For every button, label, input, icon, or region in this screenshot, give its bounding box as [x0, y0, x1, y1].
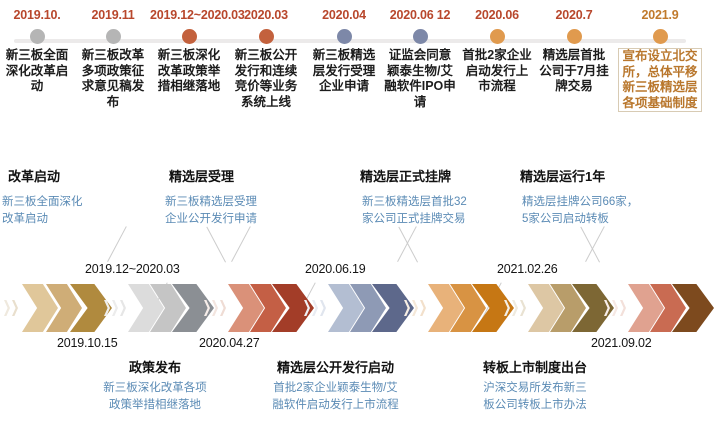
mid-callout-title: 改革启动 — [2, 168, 162, 186]
milestone-dot-wrap — [0, 24, 76, 48]
milestone-dot-icon — [653, 29, 668, 44]
timeline-milestone-4[interactable]: 2020.03 新三板公开发行和连续竞价等业务系统上线 — [227, 0, 305, 110]
timeline-milestone-6[interactable]: 2020.06 12 证监会同意颖泰生物/艾融软件IPO申请 — [381, 0, 459, 110]
arrow-date-below: 2020.04.27 — [199, 336, 260, 350]
arrow-tick-icon — [412, 300, 418, 316]
arrow-tick-icon — [604, 300, 610, 316]
milestone-date: 2020.03 — [227, 8, 305, 24]
mid-callout-title: 精选层正式挂牌 — [352, 168, 542, 186]
bottom-callout-title: 精选层公开发行启动 — [228, 358, 443, 377]
timeline-milestone-2[interactable]: 2019.11 新三板改革多项政策征求意见稿发布 — [74, 0, 152, 110]
milestone-date: 2019.11 — [74, 8, 152, 24]
milestone-text: 新三板精选层发行受理企业申请 — [305, 48, 383, 95]
milestone-dot-icon — [567, 29, 582, 44]
bottom-callout-desc: 新三板深化改革各项 政策举措相继落地 — [60, 380, 250, 414]
milestone-dot-wrap — [618, 24, 702, 48]
timeline-milestone-8[interactable]: 2020.7 精选层首批公司于7月挂牌交易 — [535, 0, 613, 95]
bottom-callout-desc: 首批2家企业颖泰生物/艾 融软件启动发行上市流程 — [228, 380, 443, 414]
mid-callout-title: 精选层受理 — [165, 168, 345, 186]
arrow-tick-icon — [520, 300, 526, 316]
arrow-date-above: 2021.02.26 — [497, 262, 558, 276]
mid-callout-title: 精选层运行1年 — [518, 168, 708, 186]
bottom-callout-title: 政策发布 — [60, 358, 250, 377]
arrow-tick-icon — [420, 300, 426, 316]
arrow-group-2[interactable] — [104, 284, 204, 332]
milestone-text: 首批2家企业启动发行上市流程 — [458, 48, 536, 95]
bottom-callout-desc-line: 首批2家企业颖泰生物/艾 — [228, 380, 443, 397]
timeline-milestone-9[interactable]: 2021.9 宣布设立北交所，总体平移新三板精选层各项基础制度 — [618, 0, 702, 112]
arrow-tick-icon — [12, 300, 18, 316]
arrow-tick-icon — [512, 300, 518, 316]
bottom-callout-desc-line: 新三板深化改革各项 — [60, 380, 250, 397]
arrow-tick-icon — [320, 300, 326, 316]
mid-callout-band: 改革启动 新三板全面深化 改革启动 精选层受理 新三板精选层受理 企业公开发行申… — [0, 168, 716, 260]
timeline-milestone-7[interactable]: 2020.06 首批2家企业启动发行上市流程 — [458, 0, 536, 95]
arrow-date-below: 2019.10.15 — [57, 336, 118, 350]
timeline-milestone-5[interactable]: 2020.04 新三板精选层发行受理企业申请 — [305, 0, 383, 95]
arrow-tick-icon — [104, 300, 110, 316]
arrow-tick-icon — [612, 300, 618, 316]
mid-callout-desc: 新三板精选层首批32 家公司正式挂牌交易 — [352, 194, 542, 228]
arrow-group-4[interactable] — [304, 284, 404, 332]
arrow-tick-icon — [4, 300, 10, 316]
mid-callout-desc-line: 新三板全面深化 — [2, 194, 162, 211]
arrow-date-above: 2019.12~2020.03 — [85, 262, 180, 276]
milestone-dot-icon — [413, 29, 428, 44]
mid-callout-1[interactable]: 改革启动 新三板全面深化 改革启动 — [2, 168, 162, 228]
mid-callout-desc-line: 改革启动 — [2, 211, 162, 228]
milestone-date: 2021.9 — [618, 8, 702, 24]
mid-callout-2[interactable]: 精选层受理 新三板精选层受理 企业公开发行申请 — [165, 168, 345, 228]
timeline-milestone-3[interactable]: 2019.12~2020.03 新三板深化改革政策举措相继落地 — [150, 0, 228, 95]
milestone-dot-wrap — [381, 24, 459, 48]
milestone-dot-wrap — [150, 24, 228, 48]
arrow-group-7[interactable] — [604, 284, 704, 332]
arrow-tick-icon — [304, 300, 310, 316]
milestone-text: 宣布设立北交所，总体平移新三板精选层各项基础制度 — [618, 48, 702, 112]
arrow-group-6[interactable] — [504, 284, 604, 332]
bottom-callout-desc-line: 沪深交易所发布新三 — [440, 380, 630, 397]
milestone-dot-wrap — [305, 24, 383, 48]
arrow-tick-icon — [204, 300, 210, 316]
bottom-callout-band: 政策发布 新三板深化改革各项 政策举措相继落地 精选层公开发行启动 首批2家企业… — [0, 358, 716, 439]
milestone-dot-wrap — [74, 24, 152, 48]
arrow-tick-icon — [620, 300, 626, 316]
arrow-tick-icon — [312, 300, 318, 316]
mid-callout-desc-line: 精选层挂牌公司66家， — [518, 194, 708, 211]
milestone-date: 2019.10. — [0, 8, 76, 24]
bottom-callout-3[interactable]: 转板上市制度出台 沪深交易所发布新三 板公司转板上市办法 — [440, 358, 630, 414]
arrow-tick-icon — [120, 300, 126, 316]
arrow-date-above: 2020.06.19 — [305, 262, 366, 276]
milestone-date: 2020.06 — [458, 8, 536, 24]
milestone-dot-icon — [490, 29, 505, 44]
bottom-callout-title: 转板上市制度出台 — [440, 358, 630, 377]
milestone-dot-wrap — [227, 24, 305, 48]
mid-callout-desc-line: 家公司正式挂牌交易 — [352, 211, 542, 228]
mid-callout-desc-line: 5家公司启动转板 — [518, 211, 708, 228]
milestone-date: 2020.06 12 — [381, 8, 459, 24]
top-timeline: 2019.10. 新三板全面深化改革启动 2019.11 新三板改革多项政策征求… — [0, 0, 716, 170]
milestone-date: 2019.12~2020.03 — [150, 8, 228, 24]
bottom-callout-1[interactable]: 政策发布 新三板深化改革各项 政策举措相继落地 — [60, 358, 250, 414]
milestone-dot-wrap — [458, 24, 536, 48]
timeline-milestone-1[interactable]: 2019.10. 新三板全面深化改革启动 — [0, 0, 76, 95]
milestone-date: 2020.04 — [305, 8, 383, 24]
milestone-text: 精选层首批公司于7月挂牌交易 — [535, 48, 613, 95]
arrow-group-3[interactable] — [204, 284, 304, 332]
mid-callout-3[interactable]: 精选层正式挂牌 新三板精选层首批32 家公司正式挂牌交易 — [352, 168, 542, 228]
arrow-group-1[interactable] — [4, 284, 104, 332]
milestone-dot-icon — [30, 29, 45, 44]
milestone-dot-icon — [259, 29, 274, 44]
bottom-callout-desc: 沪深交易所发布新三 板公司转板上市办法 — [440, 380, 630, 414]
milestone-text: 新三板公开发行和连续竞价等业务系统上线 — [227, 48, 305, 110]
bottom-callout-2[interactable]: 精选层公开发行启动 首批2家企业颖泰生物/艾 融软件启动发行上市流程 — [228, 358, 443, 414]
milestone-text: 新三板深化改革政策举措相继落地 — [150, 48, 228, 95]
bottom-callout-desc-line: 板公司转板上市办法 — [440, 397, 630, 414]
arrow-band: 2019.12~2020.03 2020.06.19 2021.02.26 20… — [0, 262, 716, 352]
milestone-text: 证监会同意颖泰生物/艾融软件IPO申请 — [381, 48, 459, 110]
arrow-tick-icon — [212, 300, 218, 316]
arrow-group-5[interactable] — [404, 284, 504, 332]
arrow-date-below: 2021.09.02 — [591, 336, 652, 350]
mid-callout-4[interactable]: 精选层运行1年 精选层挂牌公司66家， 5家公司启动转板 — [518, 168, 708, 228]
milestone-text: 新三板改革多项政策征求意见稿发布 — [74, 48, 152, 110]
bottom-callout-desc-line: 融软件启动发行上市流程 — [228, 397, 443, 414]
bottom-callout-desc-line: 政策举措相继落地 — [60, 397, 250, 414]
mid-callout-desc-line: 企业公开发行申请 — [165, 211, 345, 228]
mid-callout-desc-line: 新三板精选层受理 — [165, 194, 345, 211]
mid-callout-desc: 新三板精选层受理 企业公开发行申请 — [165, 194, 345, 228]
milestone-date: 2020.7 — [535, 8, 613, 24]
mid-callout-desc-line: 新三板精选层首批32 — [352, 194, 542, 211]
mid-callout-desc: 新三板全面深化 改革启动 — [2, 194, 162, 228]
arrow-tick-icon — [404, 300, 410, 316]
arrow-tick-icon — [220, 300, 226, 316]
milestone-text: 新三板全面深化改革启动 — [0, 48, 76, 95]
mid-callout-desc: 精选层挂牌公司66家， 5家公司启动转板 — [518, 194, 708, 228]
milestone-dot-icon — [337, 29, 352, 44]
milestone-dot-icon — [106, 29, 121, 44]
arrow-tick-icon — [504, 300, 510, 316]
arrow-tick-icon — [112, 300, 118, 316]
milestone-dot-wrap — [535, 24, 613, 48]
milestone-dot-icon — [182, 29, 197, 44]
